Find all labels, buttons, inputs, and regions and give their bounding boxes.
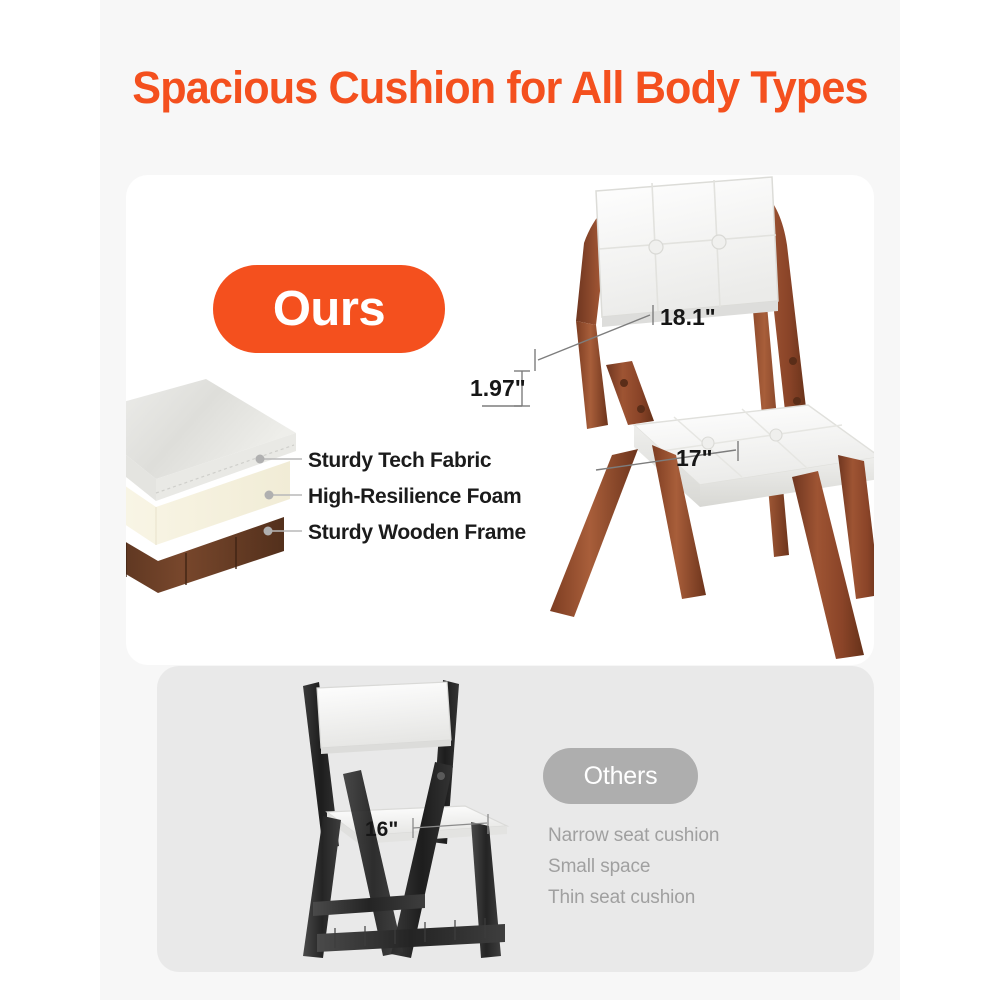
others-bullet-0: Narrow seat cushion [548,820,868,851]
dimension-seat-width: 18.1" [660,304,716,331]
callout-foam: High-Resilience Foam [308,485,521,509]
callout-fabric: Sturdy Tech Fabric [308,449,491,473]
page-title: Spacious Cushion for All Body Types [116,62,884,114]
dimension-lines [126,175,874,665]
others-dimension-line [157,666,874,972]
dimension-seat-depth: 17" [676,445,713,472]
ours-card: Ours Sturdy Tech Fabric High-Resilience … [126,175,874,665]
others-card: 16" Others Narrow seat cushion Small spa… [157,666,874,972]
others-bullet-2: Thin seat cushion [548,882,868,913]
ours-badge: Ours [213,265,445,353]
others-dimension-seat-width: 16" [365,818,398,842]
callout-frame: Sturdy Wooden Frame [308,521,526,545]
others-bullet-list: Narrow seat cushion Small space Thin sea… [548,820,868,913]
others-bullet-1: Small space [548,851,868,882]
others-badge: Others [543,748,698,804]
dimension-cushion-thickness: 1.97" [470,375,526,402]
infographic-root: Spacious Cushion for All Body Types [0,0,1000,1000]
